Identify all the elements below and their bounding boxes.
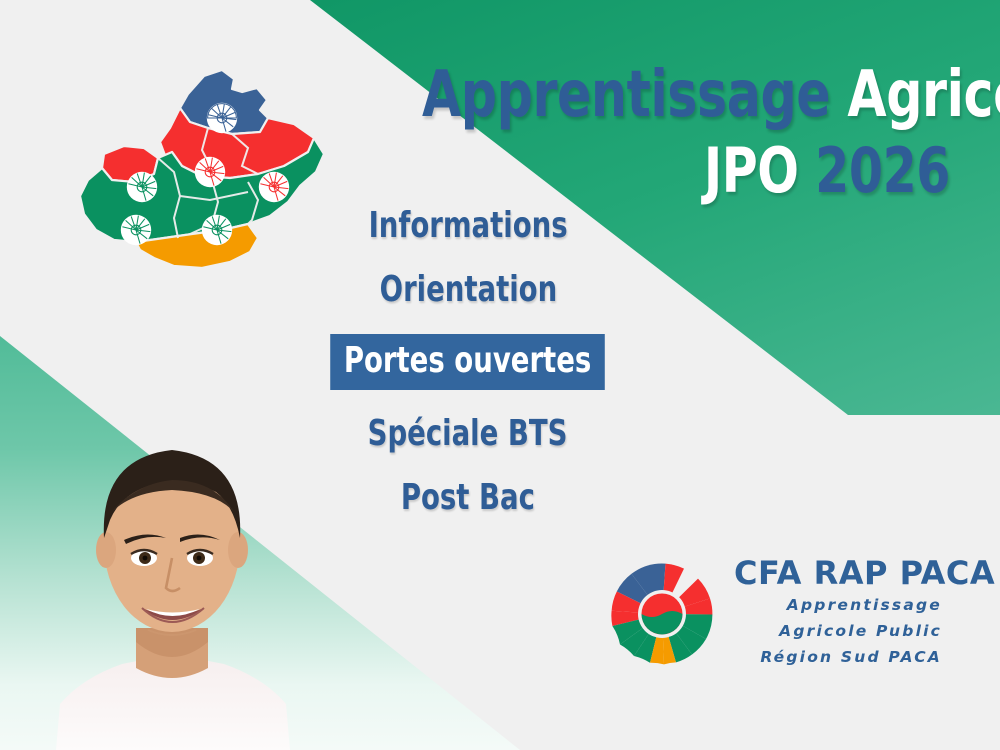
menu-item-portes-ouvertes[interactable]: Portes ouvertes: [331, 334, 606, 390]
poster-canvas: Apprentissage Agricole JPO 2026 Informat…: [0, 0, 1000, 750]
headline-line-2: JPO 2026: [422, 138, 950, 204]
region-map: [62, 62, 342, 282]
headline-word-jpo: JPO: [704, 134, 799, 207]
headline-line-1: Apprentissage Agricole: [422, 62, 950, 128]
menu-item-speciale-bts[interactable]: Spéciale BTS: [365, 414, 572, 454]
headline-word-year: 2026: [815, 134, 950, 207]
logo-text-block: CFA RAP PACA Apprentissage Agricole Publ…: [734, 548, 942, 668]
logo-subtitle-line-2: Agricole Public: [734, 620, 942, 642]
student-portrait: [38, 392, 306, 750]
menu-item-post-bac[interactable]: Post Bac: [398, 478, 539, 518]
headline-word-agricole: Agricole: [847, 58, 1000, 132]
menu-item-orientation[interactable]: Orientation: [376, 270, 560, 310]
headline-word-apprentissage: Apprentissage: [422, 58, 830, 132]
cfa-rap-paca-logo: CFA RAP PACA Apprentissage Agricole Publ…: [606, 548, 946, 678]
logo-title: CFA RAP PACA: [734, 556, 942, 590]
cfa-wheel-icon: [606, 552, 722, 674]
logo-subtitle-line-1: Apprentissage: [734, 594, 942, 616]
topic-menu: Informations Orientation Portes ouvertes…: [330, 206, 606, 518]
logo-subtitle-line-3: Région Sud PACA: [734, 646, 942, 668]
menu-item-informations[interactable]: Informations: [365, 206, 571, 246]
